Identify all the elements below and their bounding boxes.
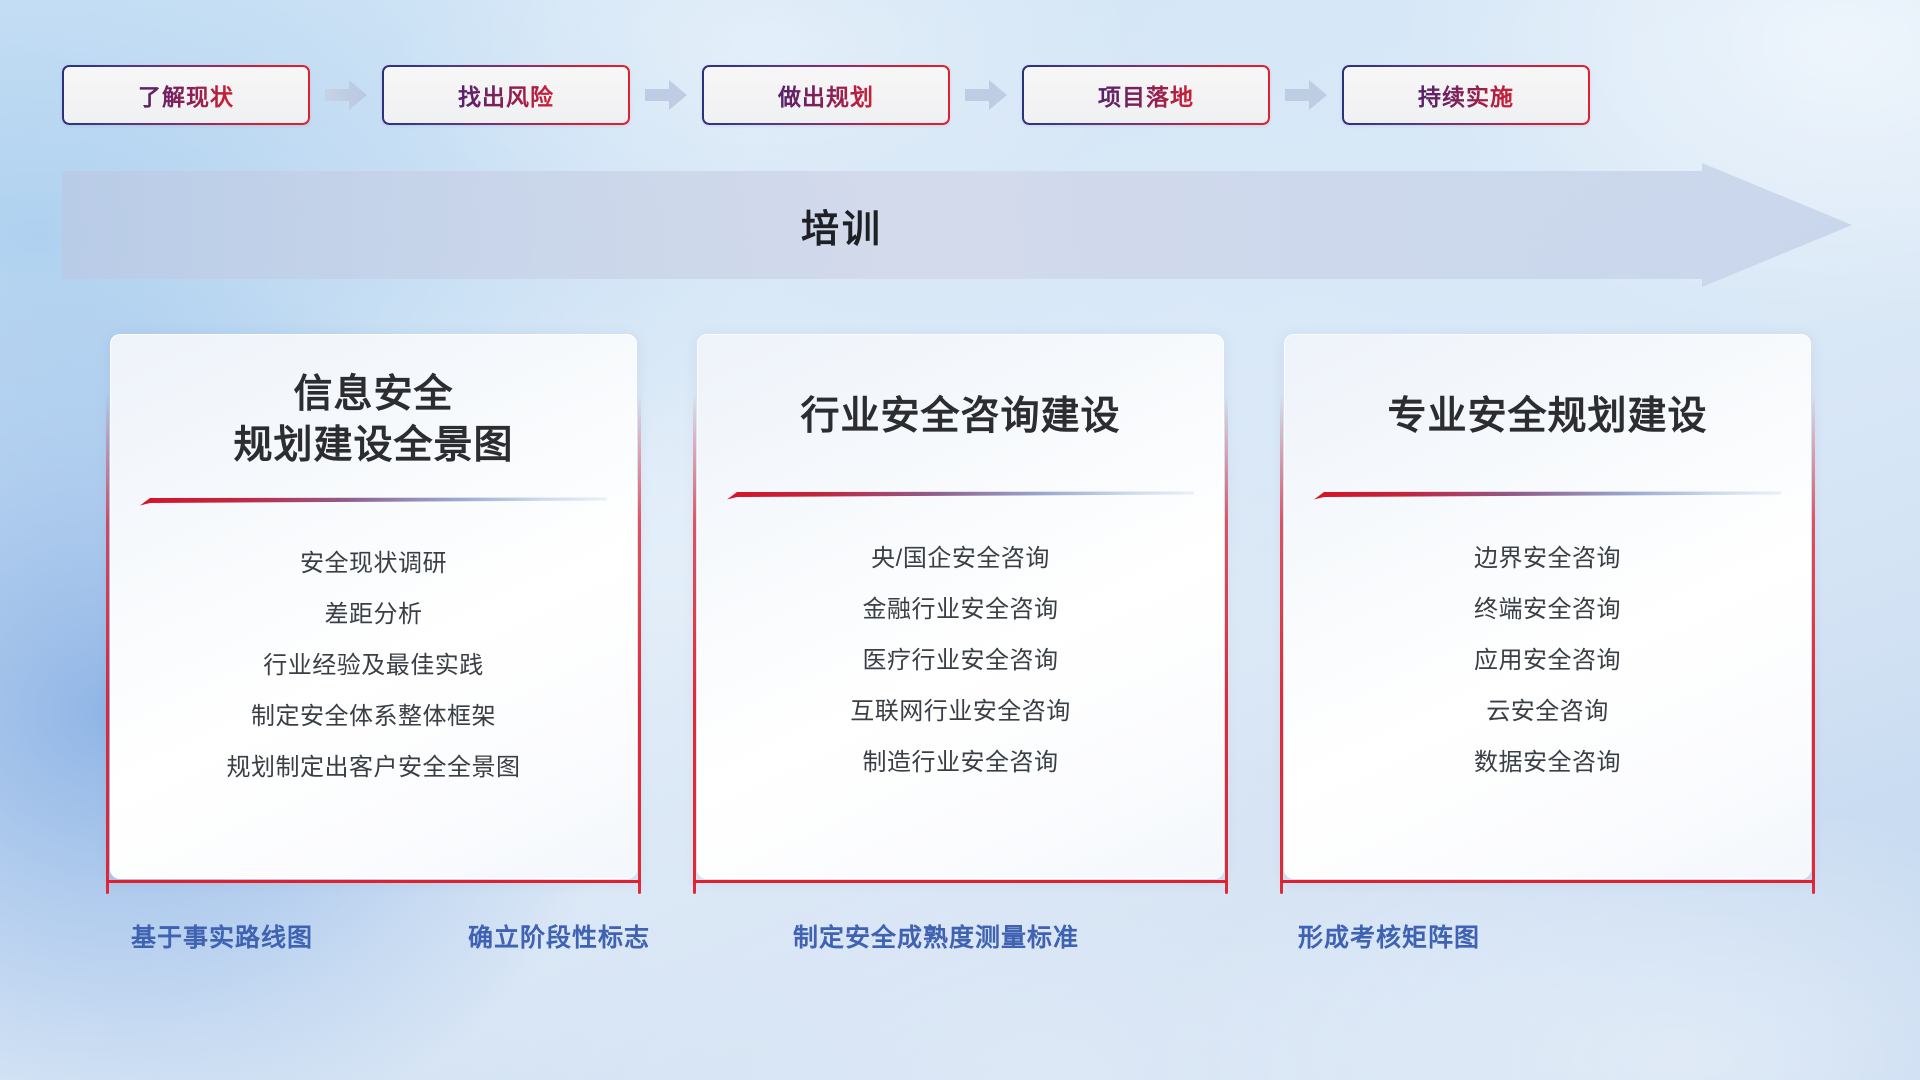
arrow-right-icon xyxy=(1285,80,1327,110)
list-item: 制定安全体系整体框架 xyxy=(140,705,607,729)
step-box-1[interactable]: 了解现状 xyxy=(62,65,310,125)
arrow-right-icon xyxy=(325,80,367,110)
arrow-right-icon xyxy=(645,80,687,110)
step-label-4: 项目落地 xyxy=(1022,65,1270,125)
step-box-4[interactable]: 项目落地 xyxy=(1022,65,1270,125)
card-divider xyxy=(140,497,607,506)
list-item: 规划制定出客户安全全景图 xyxy=(140,756,607,780)
arrow-right-icon xyxy=(965,80,1007,110)
list-item: 互联网行业安全咨询 xyxy=(727,700,1194,724)
card-item-list: 安全现状调研 差距分析 行业经验及最佳实践 制定安全体系整体框架 规划制定出客户… xyxy=(140,552,607,780)
step-box-5[interactable]: 持续实施 xyxy=(1342,65,1590,125)
footer-label-4: 形成考核矩阵图 xyxy=(1298,918,1480,954)
step-label-1: 了解现状 xyxy=(62,65,310,125)
card-row: 信息安全 规划建设全景图 xyxy=(110,334,1810,879)
list-item: 应用安全咨询 xyxy=(1314,649,1781,673)
list-item: 差距分析 xyxy=(140,603,607,627)
card-bottom-rail xyxy=(106,880,641,883)
list-item: 边界安全咨询 xyxy=(1314,547,1781,571)
list-item: 医疗行业安全咨询 xyxy=(727,649,1194,673)
step-box-3[interactable]: 做出规划 xyxy=(702,65,950,125)
list-item: 行业经验及最佳实践 xyxy=(140,654,607,678)
card-item-list: 边界安全咨询 终端安全咨询 应用安全咨询 云安全咨询 数据安全咨询 xyxy=(1314,547,1781,775)
card-bottom-rail xyxy=(1280,880,1815,883)
footer-label-3: 制定安全成熟度测量标准 xyxy=(793,918,1079,954)
list-item: 云安全咨询 xyxy=(1314,700,1781,724)
list-item: 终端安全咨询 xyxy=(1314,598,1781,622)
card-divider xyxy=(727,491,1194,500)
list-item: 数据安全咨询 xyxy=(1314,751,1781,775)
footer-label-row: 基于事实路线图 确立阶段性标志 制定安全成熟度测量标准 形成考核矩阵图 xyxy=(0,918,1920,962)
card-title: 专业安全规划建设 xyxy=(1387,392,1707,443)
list-item: 安全现状调研 xyxy=(140,552,607,576)
card-title: 行业安全咨询建设 xyxy=(800,392,1120,443)
footer-label-2: 确立阶段性标志 xyxy=(468,918,650,954)
banner-title: 培训 xyxy=(62,163,1622,287)
card-panorama[interactable]: 信息安全 规划建设全景图 xyxy=(110,334,637,879)
slide-canvas: 了解现状 找出风险 做出规划 xyxy=(0,0,1920,1080)
list-item: 金融行业安全咨询 xyxy=(727,598,1194,622)
training-banner: 培训 xyxy=(62,163,1852,287)
card-divider xyxy=(1314,491,1781,500)
card-title: 信息安全 规划建设全景图 xyxy=(233,370,513,471)
step-label-5: 持续实施 xyxy=(1342,65,1590,125)
card-industry-consulting[interactable]: 行业安全咨询建设 xyxy=(697,334,1224,879)
step-label-2: 找出风险 xyxy=(382,65,630,125)
step-label-3: 做出规划 xyxy=(702,65,950,125)
step-box-2[interactable]: 找出风险 xyxy=(382,65,630,125)
list-item: 央/国企安全咨询 xyxy=(727,547,1194,571)
list-item: 制造行业安全咨询 xyxy=(727,751,1194,775)
card-bottom-rail xyxy=(693,880,1228,883)
footer-label-1: 基于事实路线图 xyxy=(131,918,313,954)
card-professional-planning[interactable]: 专业安全规划建设 xyxy=(1284,334,1811,879)
card-item-list: 央/国企安全咨询 金融行业安全咨询 医疗行业安全咨询 互联网行业安全咨询 制造行… xyxy=(727,547,1194,775)
process-step-row: 了解现状 找出风险 做出规划 xyxy=(62,64,1860,126)
